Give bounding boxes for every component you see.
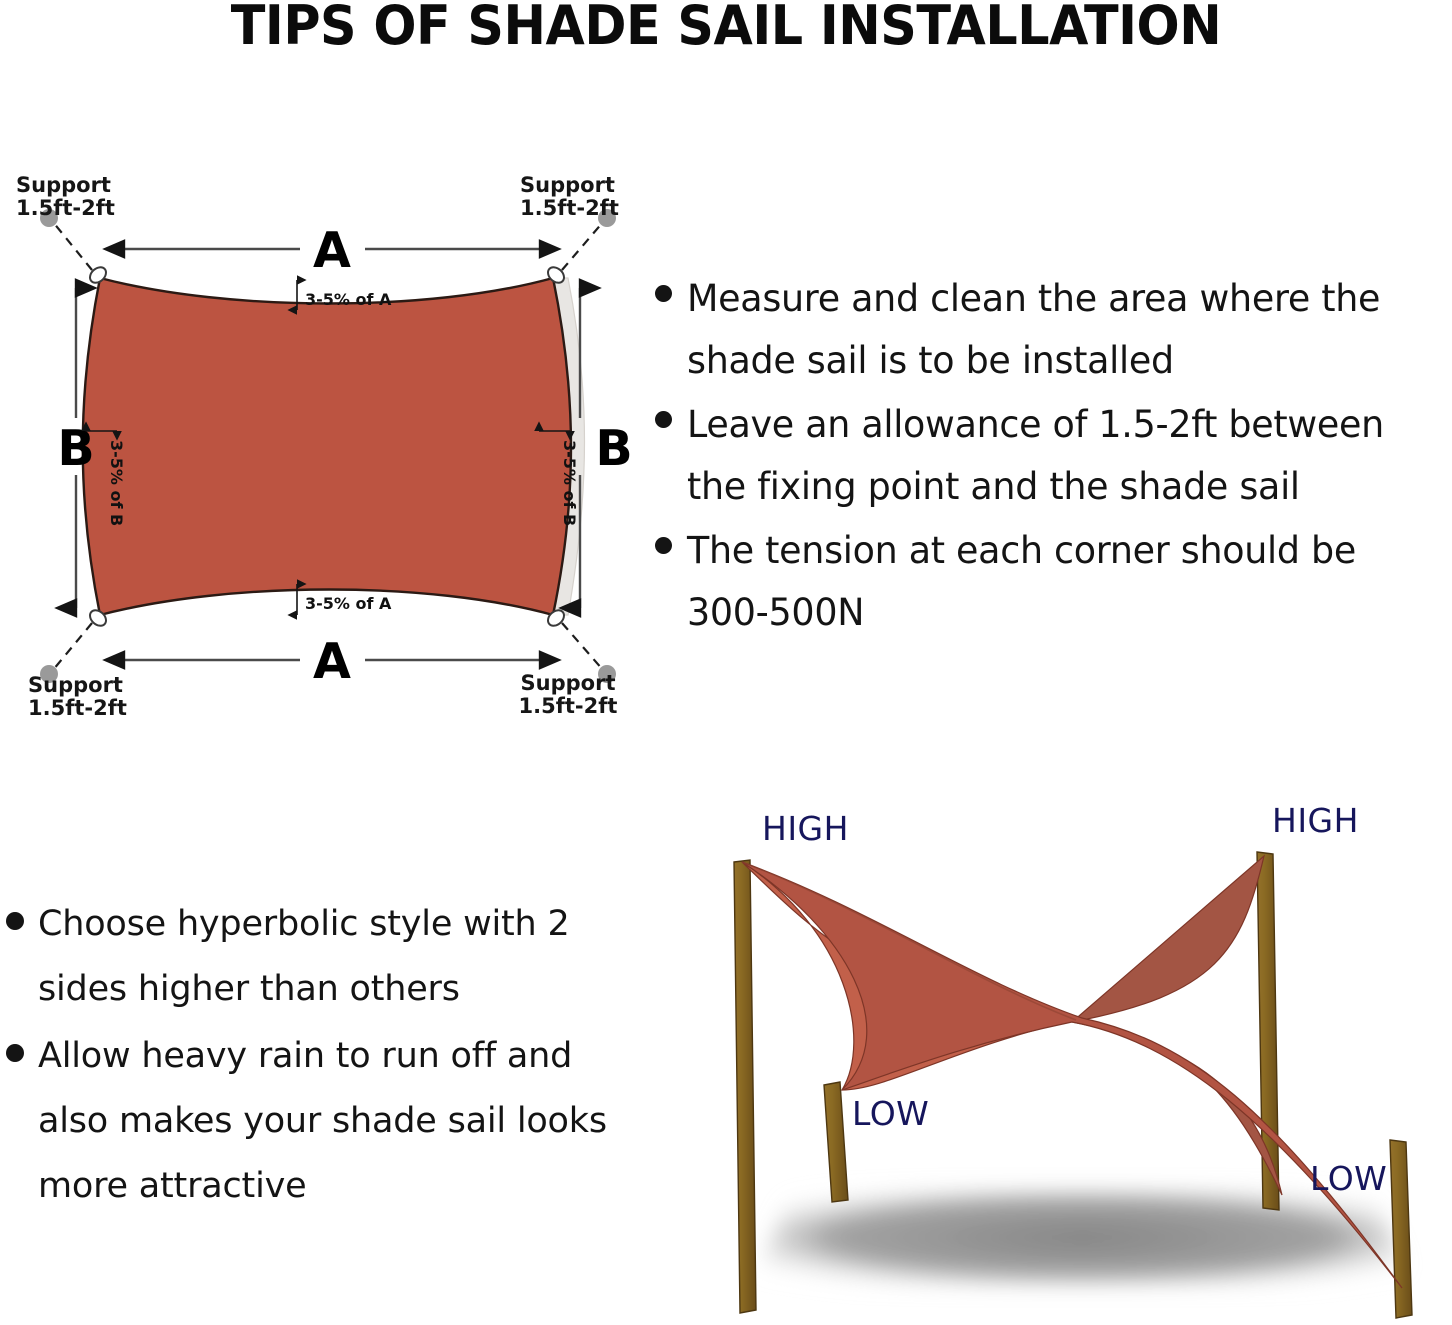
page-title: TIPS OF SHADE SAIL INSTALLATION xyxy=(44,0,1409,55)
bullet-dot-icon xyxy=(655,411,672,428)
dimension-label-a-bottom: A xyxy=(313,633,351,690)
dimension-a-top: A xyxy=(124,222,540,279)
hyperbolic-sail-diagram: HIGH HIGH LOW LOW xyxy=(672,790,1452,1325)
list-item: Measure and clean the area where the sha… xyxy=(655,268,1452,392)
support-label-bottom-left-line1: Support xyxy=(28,673,123,697)
list-item: Leave an allowance of 1.5-2ft between th… xyxy=(655,394,1452,518)
sag-label-top: 3-5% of A xyxy=(305,290,392,309)
dimension-b-left: B xyxy=(57,288,94,608)
tip-text: The tension at each corner should be 300… xyxy=(687,520,1443,644)
bullet-dot-icon xyxy=(6,912,24,930)
sag-callout-top: 3-5% of A xyxy=(297,280,392,310)
tip-text: Leave an allowance of 1.5-2ft between th… xyxy=(687,394,1443,518)
ground-shadow xyxy=(752,1190,1412,1285)
bullet-dot-icon xyxy=(6,1044,24,1062)
dimension-label-b-left: B xyxy=(57,420,94,477)
corner-label-high-left: HIGH xyxy=(762,809,849,848)
support-label-top-left-line1: Support xyxy=(16,173,111,197)
post-low-right xyxy=(1390,1140,1412,1318)
support-label-top-left-line2: 1.5ft-2ft xyxy=(16,196,115,220)
sag-label-left: 3-5% of B xyxy=(107,440,126,526)
list-item: Choose hyperbolic style with 2 sides hig… xyxy=(6,892,626,1022)
dimension-b-right: B xyxy=(580,288,633,608)
bullet-dot-icon xyxy=(655,285,672,302)
support-label-top-right-line1: Support xyxy=(520,173,615,197)
corner-label-low-right: LOW xyxy=(1310,1159,1387,1198)
support-label-bottom-right-line2: 1.5ft-2ft xyxy=(519,694,618,718)
dimension-label-b-right: B xyxy=(595,420,632,477)
support-label-bottom-right-line1: Support xyxy=(521,671,616,695)
shade-sail-body xyxy=(83,278,571,615)
dimension-label-a-top: A xyxy=(313,222,351,279)
tip-text: Measure and clean the area where the sha… xyxy=(687,268,1443,392)
tension-line-bottom-left xyxy=(53,623,92,670)
post-high-left xyxy=(734,860,756,1313)
dimension-a-bottom: A xyxy=(124,633,540,690)
post-low-left xyxy=(824,1082,848,1202)
corner-label-high-right: HIGH xyxy=(1272,801,1359,840)
tension-line-bottom-right xyxy=(562,623,603,670)
sag-label-right: 3-5% of B xyxy=(560,440,579,526)
tips-list-right: Measure and clean the area where the sha… xyxy=(655,268,1452,646)
tension-line-top-left xyxy=(53,222,92,270)
support-label-bottom-left-line2: 1.5ft-2ft xyxy=(28,696,127,720)
sag-label-bottom: 3-5% of A xyxy=(305,594,392,613)
list-item: The tension at each corner should be 300… xyxy=(655,520,1452,644)
infographic-page: TIPS OF SHADE SAIL INSTALLATION xyxy=(0,0,1452,1325)
tip-text: Allow heavy rain to run off and also mak… xyxy=(38,1024,626,1219)
support-label-top-right-line2: 1.5ft-2ft xyxy=(520,196,619,220)
tips-list-left: Choose hyperbolic style with 2 sides hig… xyxy=(6,892,626,1221)
list-item: Allow heavy rain to run off and also mak… xyxy=(6,1024,626,1219)
tension-line-top-right xyxy=(562,222,603,270)
bullet-dot-icon xyxy=(655,537,672,554)
rectangular-sail-diagram: Support 1.5ft-2ft Support 1.5ft-2ft Supp… xyxy=(0,160,660,730)
tip-text: Choose hyperbolic style with 2 sides hig… xyxy=(38,892,626,1022)
corner-label-low-left: LOW xyxy=(852,1094,929,1133)
